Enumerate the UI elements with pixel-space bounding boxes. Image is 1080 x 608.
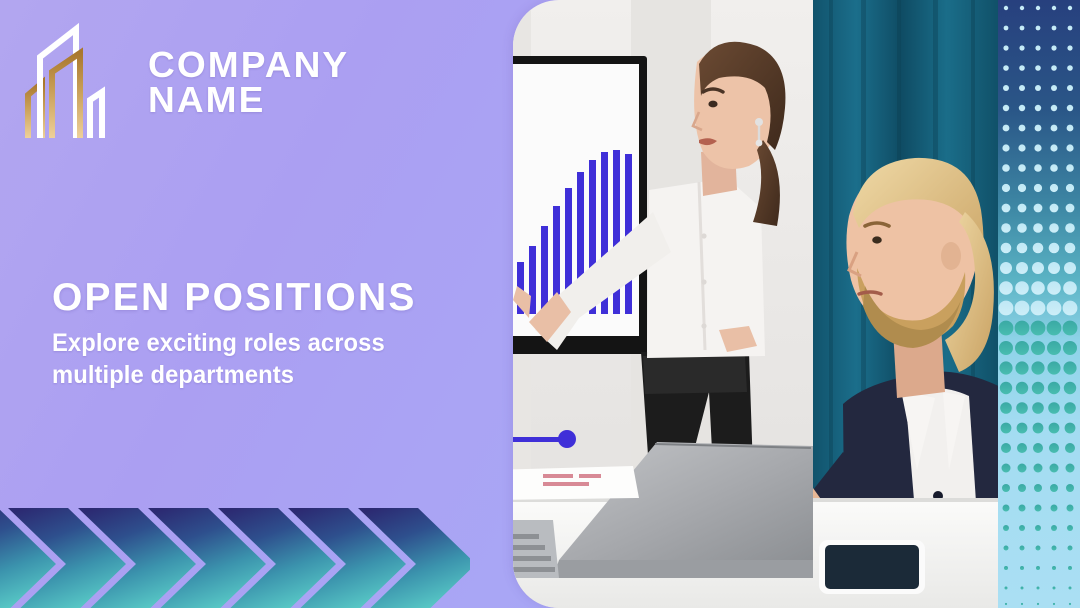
company-logo[interactable]: COMPANY NAME [18, 22, 343, 142]
company-name-line1: COMPANY [148, 47, 349, 82]
smartphone [819, 540, 925, 594]
page-title: OPEN POSITIONS [52, 278, 502, 319]
company-name-line2: NAME [148, 82, 349, 117]
office-presentation-illustration [513, 0, 1010, 608]
halftone-dot-gradient-strip [998, 0, 1080, 608]
headline-block: OPEN POSITIONS Explore exciting roles ac… [52, 278, 502, 391]
company-name-text: COMPANY NAME [148, 47, 349, 118]
chevron-arrow-band [0, 496, 470, 608]
building-skyline-logo-icon [18, 22, 138, 142]
chevron-arrow-band-icon [0, 496, 470, 608]
office-presentation-photo [513, 0, 1010, 608]
page-subtitle: Explore exciting roles across multiple d… [52, 327, 480, 391]
open-positions-banner: COMPANY NAME OPEN POSITIONS Explore exci… [0, 0, 1080, 608]
halftone-dot-pattern-icon [998, 0, 1080, 608]
